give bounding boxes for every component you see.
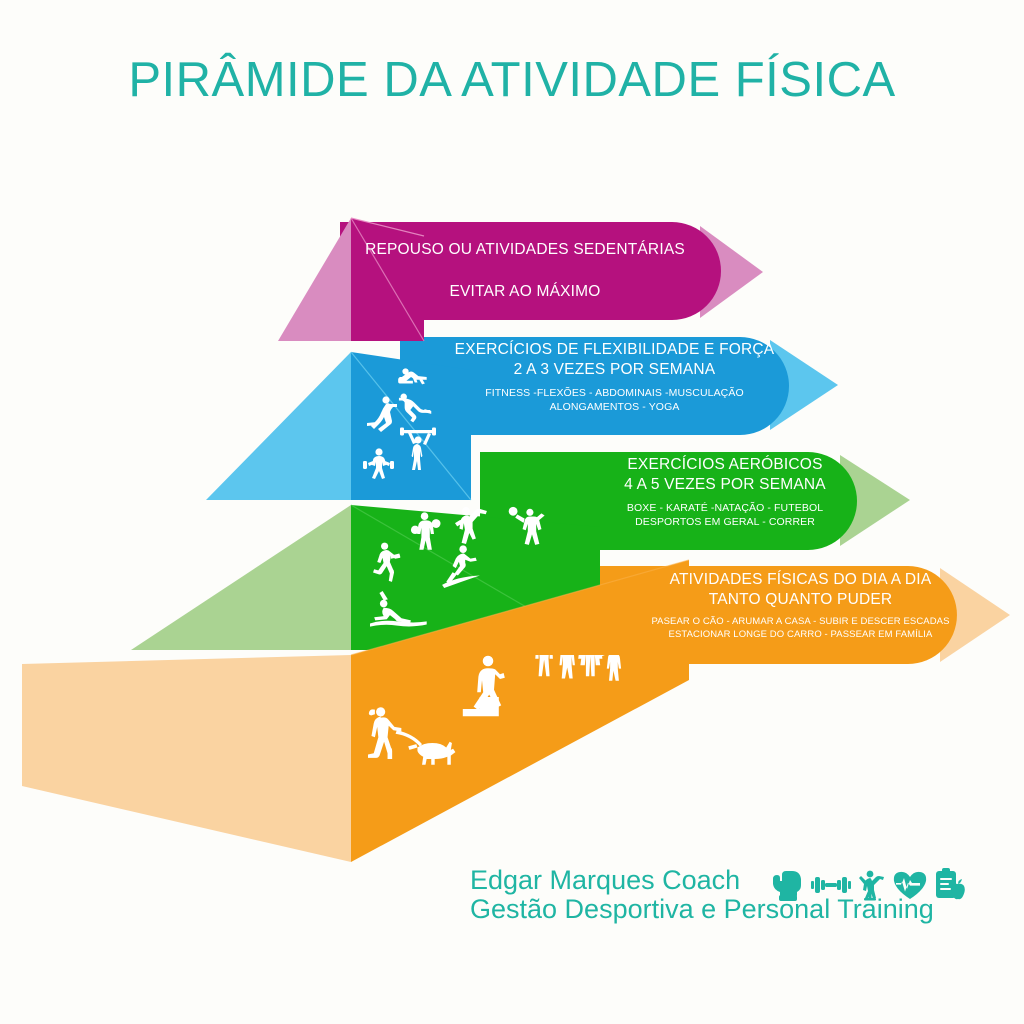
- infographic-canvas: PIRÂMIDE DA ATIVIDADE FÍSICA: [0, 0, 1024, 1024]
- gymnast-icon: [858, 868, 886, 902]
- level-3-left-face: [131, 505, 351, 650]
- dumbbell-icon: [811, 872, 851, 898]
- pyramid-level-2[interactable]: [206, 352, 471, 500]
- pyramid-level-1[interactable]: [278, 218, 424, 341]
- heart-pulse-icon: [893, 870, 927, 900]
- boxing-glove-icon: [770, 869, 804, 901]
- level-2-left-face: [206, 352, 351, 500]
- footer-icon-row: [770, 868, 966, 902]
- clipboard-apple-icon: [934, 868, 966, 902]
- level-4-left-face: [22, 655, 351, 862]
